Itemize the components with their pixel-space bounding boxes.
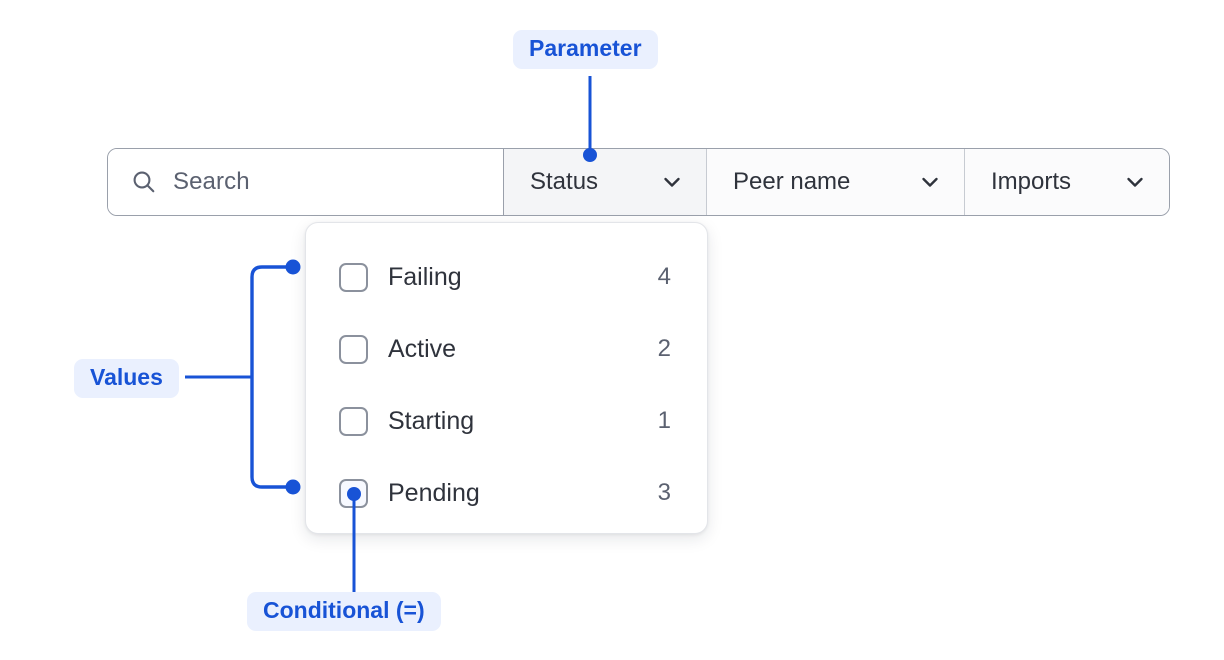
dropdown-option-label: Failing [388, 263, 633, 292]
dropdown-option-label: Starting [388, 407, 633, 436]
search-input[interactable]: Search [108, 149, 504, 215]
checkbox-failing[interactable] [339, 263, 368, 292]
dropdown-option-failing[interactable]: Failing 4 [306, 241, 707, 313]
filter-bar: Search Status Peer name Imports [107, 148, 1170, 216]
dropdown-option-count: 1 [653, 407, 671, 435]
filter-button-peer-name[interactable]: Peer name [707, 149, 965, 215]
checkbox-active[interactable] [339, 335, 368, 364]
filter-label-peer-name: Peer name [733, 168, 850, 196]
annotation-badge-parameter: Parameter [513, 30, 658, 69]
dropdown-option-starting[interactable]: Starting 1 [306, 385, 707, 457]
search-placeholder: Search [173, 168, 250, 196]
dropdown-option-count: 3 [653, 479, 671, 507]
dropdown-option-count: 2 [653, 335, 671, 363]
search-icon [131, 169, 157, 195]
annotation-badge-conditional: Conditional (=) [247, 592, 441, 631]
filter-label-imports: Imports [991, 168, 1071, 196]
chevron-down-icon [918, 170, 942, 194]
status-filter-dropdown: Failing 4 Active 2 Starting 1 Pending 3 [305, 222, 708, 534]
dropdown-option-label: Pending [388, 479, 633, 508]
dropdown-option-active[interactable]: Active 2 [306, 313, 707, 385]
chevron-down-icon [1123, 170, 1147, 194]
filter-button-imports[interactable]: Imports [965, 149, 1169, 215]
filter-button-status[interactable]: Status [504, 149, 707, 215]
checkbox-pending[interactable] [339, 479, 368, 508]
dropdown-option-label: Active [388, 335, 633, 364]
annotated-filter-diagram: Search Status Peer name Imports [0, 0, 1224, 660]
dropdown-option-pending[interactable]: Pending 3 [306, 457, 707, 529]
annotation-badge-values: Values [74, 359, 179, 398]
chevron-down-icon [660, 170, 684, 194]
checkbox-starting[interactable] [339, 407, 368, 436]
filter-label-status: Status [530, 168, 598, 196]
dropdown-option-count: 4 [653, 263, 671, 291]
